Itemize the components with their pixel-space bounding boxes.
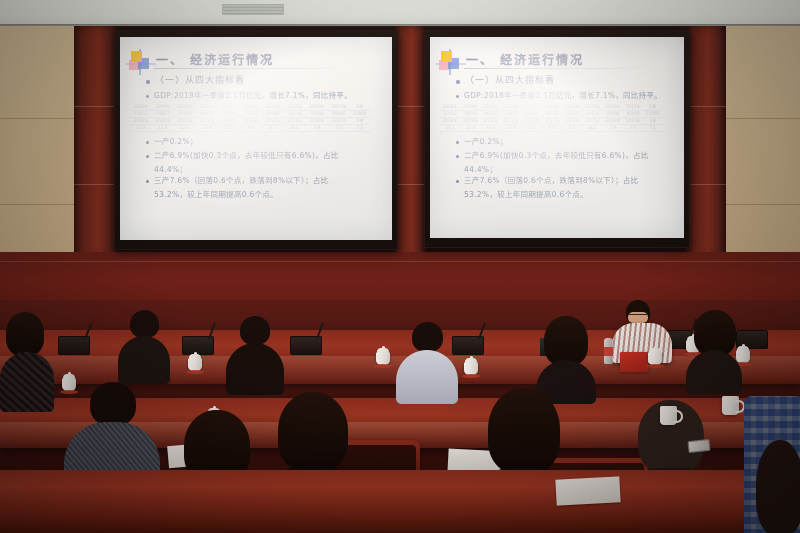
cell: 2012年 xyxy=(521,104,541,111)
wood-pillar-center xyxy=(394,26,426,260)
cell: 2016年 xyxy=(306,118,328,125)
cell: 85940 xyxy=(328,111,350,118)
slide-logo-icon xyxy=(129,51,151,73)
table-row: 2008年 2009年 2010年 2011年 2012年 2013年 2014… xyxy=(130,118,370,125)
cell: 2017年 xyxy=(623,104,643,111)
audience-member xyxy=(756,440,800,533)
audience-member xyxy=(226,316,284,392)
cell: 7.1 xyxy=(643,125,662,132)
bullet-dot-icon xyxy=(146,155,149,158)
slide-title: 一、 经济运行情况 xyxy=(156,51,274,68)
cell: 9.4 xyxy=(240,125,262,132)
air-vent-icon xyxy=(222,4,284,15)
bullet-text-primary: 一产0.2%； xyxy=(464,136,508,147)
bullet-dot-icon xyxy=(146,180,149,183)
slide-bullet-primary: 一产0.2%； xyxy=(146,136,386,147)
cell: 36494 xyxy=(521,111,541,118)
bullet-text-tertiary-cont: 53.2%，较上年同期提高0.6个点。 xyxy=(464,189,678,200)
cell: 12.6 xyxy=(174,125,196,132)
cell: 8.5 xyxy=(582,125,602,132)
cell: 2013年 xyxy=(542,104,562,111)
cell: 10.1 xyxy=(521,125,541,132)
screen-bezel-right: 一、 经济运行情况 （一）从四大指标看 GDP:2018年一季度2.1万亿元，增… xyxy=(425,31,689,247)
bullet-dot-icon xyxy=(456,141,459,144)
bullet-text-primary: 一产0.2%； xyxy=(154,136,198,147)
cell: 7.9 xyxy=(603,125,623,132)
bullet-text-secondary-cont: 44.4%； xyxy=(154,164,386,175)
cell: 2014年 xyxy=(262,118,284,125)
cell: 2015年 xyxy=(582,104,602,111)
title-underline xyxy=(464,68,637,69)
cell: 40903 xyxy=(481,111,501,118)
cell: 2008年 xyxy=(130,118,152,125)
slide-logo-icon xyxy=(439,51,461,73)
bullet-text-tertiary-cont: 53.2%，较上年同期提高0.6个点。 xyxy=(154,189,386,200)
cell: 19603 xyxy=(152,111,174,118)
cell: 2011年 xyxy=(196,118,218,125)
teacup xyxy=(376,352,390,365)
cell: 2011年 xyxy=(501,118,521,125)
teacup xyxy=(648,352,662,365)
cell: 2011年 xyxy=(501,104,521,111)
slide-bullet-list: （一）从四大指标看 GDP:2018年一季度2.1万亿元，增长7.1%，同比持平… xyxy=(456,75,678,200)
cell: 2012年 xyxy=(218,118,240,125)
table-row: 10052 19603 40903 44634 36494 34163 4048… xyxy=(130,111,370,118)
cell: 11.6 xyxy=(501,125,521,132)
eyeglasses-icon xyxy=(629,314,648,318)
cell: 10.1 xyxy=(218,125,240,132)
slide-title: 一、 经济运行情况 xyxy=(466,51,584,68)
bullet-text-gdp: GDP:2018年一季度2.1万亿元，增长7.1%，同比持平。 xyxy=(464,90,662,101)
bullet-text-secondary-cont: 44.4%； xyxy=(464,164,678,175)
cell: 7.9 xyxy=(306,125,328,132)
slide-bullet-primary: 一产0.2%； xyxy=(456,136,678,147)
cell: 7.2 xyxy=(623,125,643,132)
cell: 9.4 xyxy=(542,125,562,132)
audience-member xyxy=(686,310,742,388)
slide-bullet-gdp: GDP:2018年一季度2.1万亿元，增长7.1%，同比持平。 xyxy=(456,90,678,101)
cell: 34163 xyxy=(542,111,562,118)
cell: 2012年 xyxy=(521,118,541,125)
slide-bullet-tertiary: 三产7.6%（回落0.6个点，跌落到8%以下）；占比 xyxy=(146,175,386,186)
table-row: 2008年 2009年 2010年 2011年 2012年 2013年 2014… xyxy=(130,104,370,111)
cell: 12.2 xyxy=(440,125,460,132)
cell: 34163 xyxy=(240,111,262,118)
slide-data-table: 2008年 2009年 2010年 2011年 2012年 2013年 2014… xyxy=(440,104,662,132)
cell: 2014年 xyxy=(562,104,582,111)
cell: 19114 xyxy=(284,111,306,118)
cell: 19603 xyxy=(460,111,480,118)
cell: 21090 xyxy=(643,111,662,118)
cell: 2010年 xyxy=(174,118,196,125)
cell: 11.6 xyxy=(196,125,218,132)
cell: 40903 xyxy=(174,111,196,118)
table-row: 2008年 2009年 2010年 2011年 2012年 2013年 2014… xyxy=(440,118,662,125)
slide-right: 一、 经济运行情况 （一）从四大指标看 GDP:2018年一季度2.1万亿元，增… xyxy=(430,37,684,238)
cell: 1季 xyxy=(643,118,662,125)
slide-left: 一、 经济运行情况 （一）从四大指标看 GDP:2018年一季度2.1万亿元，增… xyxy=(120,37,392,240)
cell: 10052 xyxy=(440,111,460,118)
cell: 2009年 xyxy=(460,118,480,125)
cell: 40486 xyxy=(262,111,284,118)
cell: 40486 xyxy=(562,111,582,118)
cell: 10052 xyxy=(130,111,152,118)
cell: 2016年 xyxy=(603,104,623,111)
cell: 2017年 xyxy=(328,118,350,125)
table-row: 2008年 2009年 2010年 2011年 2012年 2013年 2014… xyxy=(440,104,662,111)
water-bottle xyxy=(604,338,613,364)
slide-heading-row: （一）从四大指标看 xyxy=(456,75,678,87)
cell: 2009年 xyxy=(460,104,480,111)
wood-pillar-left xyxy=(74,26,118,260)
bullet-dot-icon xyxy=(146,95,149,98)
cell: 2013年 xyxy=(542,118,562,125)
cell: 2009年 xyxy=(152,118,174,125)
slide-bullet-list: （一）从四大指标看 GDP:2018年一季度2.1万亿元，增长7.1%，同比持平… xyxy=(146,75,386,200)
slide-bullet-secondary: 二产6.9%(加快0.3个点，去年较低只有6.6%)，占比 xyxy=(456,150,678,161)
mug xyxy=(660,406,677,425)
table-row: 10052 19603 40903 44634 36494 34163 4048… xyxy=(440,111,662,118)
cell: 76486 xyxy=(603,111,623,118)
cell: 1季 xyxy=(350,118,370,125)
teacup xyxy=(464,362,478,375)
wood-pillar-right xyxy=(686,26,726,260)
cell: 2015年 xyxy=(284,118,306,125)
cell: 12.4 xyxy=(152,125,174,132)
bullet-text-gdp: GDP:2018年一季度2.1万亿元，增长7.1%，同比持平。 xyxy=(154,90,352,101)
cell: 7.1 xyxy=(350,125,370,132)
slide-bullet-gdp: GDP:2018年一季度2.1万亿元，增长7.1%，同比持平。 xyxy=(146,90,386,101)
slide-heading: （一）从四大指标看 xyxy=(465,75,555,87)
cell: 85940 xyxy=(623,111,643,118)
cell: 2015年 xyxy=(582,118,602,125)
cell: 2008年 xyxy=(440,104,460,111)
cell: 44634 xyxy=(501,111,521,118)
bullet-text-tertiary: 三产7.6%（回落0.6个点，跌落到8%以下）；占比 xyxy=(464,175,638,186)
bullet-dot-icon xyxy=(146,141,149,144)
cell: 2008年 xyxy=(440,118,460,125)
bullet-text-secondary: 二产6.9%(加快0.3个点，去年较低只有6.6%)，占比 xyxy=(154,150,339,161)
cell: 12.4 xyxy=(460,125,480,132)
title-underline xyxy=(154,68,339,69)
cell: 2010年 xyxy=(481,118,501,125)
bullet-text-tertiary: 三产7.6%（回落0.6个点，跌落到8%以下）；占比 xyxy=(154,175,328,186)
red-bag xyxy=(620,352,648,372)
left-projection-screen: 一、 经济运行情况 （一）从四大指标看 GDP:2018年一季度2.1万亿元，增… xyxy=(114,30,398,250)
bullet-dot-icon xyxy=(146,80,150,84)
paper-document xyxy=(555,476,620,505)
cell: 8.7 xyxy=(562,125,582,132)
cell: 36494 xyxy=(218,111,240,118)
bullet-dot-icon xyxy=(456,95,459,98)
audience-table-front-row xyxy=(0,470,800,533)
slide-bullet-secondary: 二产6.9%(加快0.3个点，去年较低只有6.6%)，占比 xyxy=(146,150,386,161)
cell: 7.2 xyxy=(328,125,350,132)
slide-data-table: 2008年 2009年 2010年 2011年 2012年 2013年 2014… xyxy=(130,104,370,132)
slide-bullet-tertiary: 三产7.6%（回落0.6个点，跌落到8%以下）；占比 xyxy=(456,175,678,186)
cell: 2017年 xyxy=(623,118,643,125)
audience-member xyxy=(118,310,170,380)
cell: 19114 xyxy=(582,111,602,118)
smartphone xyxy=(687,439,710,453)
screen-bezel-left: 一、 经济运行情况 （一）从四大指标看 GDP:2018年一季度2.1万亿元，增… xyxy=(115,31,397,249)
teacup xyxy=(188,358,202,371)
cell: 76486 xyxy=(306,111,328,118)
cell: 21090 xyxy=(350,111,370,118)
cell: 8.7 xyxy=(262,125,284,132)
bullet-dot-icon xyxy=(456,80,460,84)
bullet-text-secondary: 二产6.9%(加快0.3个点，去年较低只有6.6%)，占比 xyxy=(464,150,649,161)
right-projection-screen: 一、 经济运行情况 （一）从四大指标看 GDP:2018年一季度2.1万亿元，增… xyxy=(424,30,690,248)
conference-room-photo: 一、 经济运行情况 （一）从四大指标看 GDP:2018年一季度2.1万亿元，增… xyxy=(0,0,800,533)
audience-member xyxy=(396,322,458,400)
cell: 2014年 xyxy=(562,118,582,125)
table-row: 12.2 12.4 12.6 11.6 10.1 9.4 8.7 8.5 7.9… xyxy=(440,125,662,132)
ceiling xyxy=(0,0,800,26)
cell: 12.2 xyxy=(130,125,152,132)
cell: 2010年 xyxy=(481,104,501,111)
cell: 12.6 xyxy=(481,125,501,132)
cell: 2013年 xyxy=(240,118,262,125)
cell: 8.5 xyxy=(284,125,306,132)
slide-heading-row: （一）从四大指标看 xyxy=(146,75,386,87)
cell: 2016年 xyxy=(603,118,623,125)
mug xyxy=(722,396,739,415)
slide-heading: （一）从四大指标看 xyxy=(155,75,245,87)
table-row: 12.2 12.4 12.6 11.6 10.1 9.4 8.7 8.5 7.9… xyxy=(130,125,370,132)
cell: 44634 xyxy=(196,111,218,118)
bullet-dot-icon xyxy=(456,180,459,183)
bullet-dot-icon xyxy=(456,155,459,158)
screen-surface-right: 一、 经济运行情况 （一）从四大指标看 GDP:2018年一季度2.1万亿元，增… xyxy=(430,37,684,238)
screen-surface-left: 一、 经济运行情况 （一）从四大指标看 GDP:2018年一季度2.1万亿元，增… xyxy=(120,37,392,240)
audience-member xyxy=(0,312,54,408)
